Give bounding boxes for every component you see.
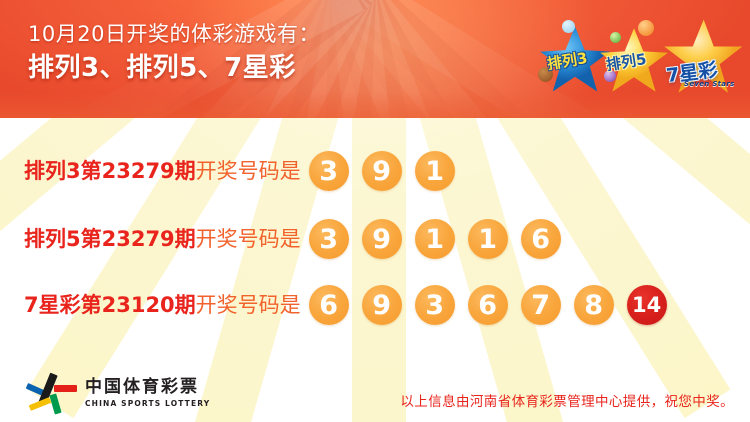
result-label: 排列3第23279期开奖号码是 [24,161,301,182]
logo-bar-green [49,393,61,414]
footer-disclaimer: 以上信息由河南省体育彩票管理中心提供，祝您中奖。 [400,390,734,410]
result-label: 7星彩第23120期开奖号码是 [24,295,301,316]
ball-accent-lightblue [562,20,575,33]
number-ball: 8 [574,285,614,325]
number-ball: 6 [468,285,508,325]
result-label-suffix: 开奖号码是 [196,159,301,183]
result-game-issue: 排列5第23279期 [24,227,196,251]
number-ball: 6 [521,219,561,259]
number-ball-group: 391 [309,151,468,191]
header-banner: 10月20日开奖的体彩游戏有： 排列3、排列5、7星彩 排列3 [0,0,750,118]
footer: 中国体育彩票 CHINA SPORTS LOTTERY 以上信息由河南省体育彩票… [0,366,750,422]
game-logo-group: 排列3 排列5 [530,16,746,108]
number-ball: 9 [362,285,402,325]
china-sports-lottery-logo-icon [26,374,76,412]
number-ball: 9 [362,151,402,191]
brand-name-en: CHINA SPORTS LOTTERY [85,399,210,408]
header-date-line: 10月20日开奖的体彩游戏有： [28,20,320,48]
number-ball-special: 14 [627,285,667,325]
header-games-line: 排列3、排列5、7星彩 [28,50,320,86]
result-label-suffix: 开奖号码是 [196,227,301,251]
logo-qixingcai[interactable]: 7星彩 Seven Stars [660,18,744,102]
number-ball-group: 69367814 [309,285,680,325]
number-ball: 3 [309,219,349,259]
brand-lockup: 中国体育彩票 CHINA SPORTS LOTTERY [26,374,210,412]
number-ball: 6 [309,285,349,325]
lottery-results-banner: 10月20日开奖的体彩游戏有： 排列3、排列5、7星彩 排列3 [0,0,750,422]
ball-accent-green [610,32,621,43]
result-row: 排列5第23279期开奖号码是39116 [24,216,574,262]
result-game-issue: 排列3第23279期 [24,159,196,183]
result-row: 7星彩第23120期开奖号码是69367814 [24,282,680,328]
number-ball: 1 [468,219,508,259]
result-game-issue: 7星彩第23120期 [24,293,196,317]
number-ball: 3 [415,285,455,325]
number-ball: 3 [309,151,349,191]
brand-text: 中国体育彩票 CHINA SPORTS LOTTERY [85,378,210,409]
logo-qixingcai-subtitle: Seven Stars [684,80,735,88]
logo-bar-red [54,385,77,392]
header-text-block: 10月20日开奖的体彩游戏有： 排列3、排列5、7星彩 [28,20,320,87]
result-label-suffix: 开奖号码是 [196,293,301,317]
result-row: 排列3第23279期开奖号码是391 [24,148,468,194]
number-ball: 7 [521,285,561,325]
number-ball-group: 39116 [309,219,574,259]
results-list: 排列3第23279期开奖号码是391排列5第23279期开奖号码是391167星… [0,118,750,368]
number-ball: 1 [415,151,455,191]
brand-name-cn: 中国体育彩票 [85,378,210,398]
ball-accent-orange [638,20,654,36]
number-ball: 1 [415,219,455,259]
result-label: 排列5第23279期开奖号码是 [24,229,301,250]
number-ball: 9 [362,219,402,259]
